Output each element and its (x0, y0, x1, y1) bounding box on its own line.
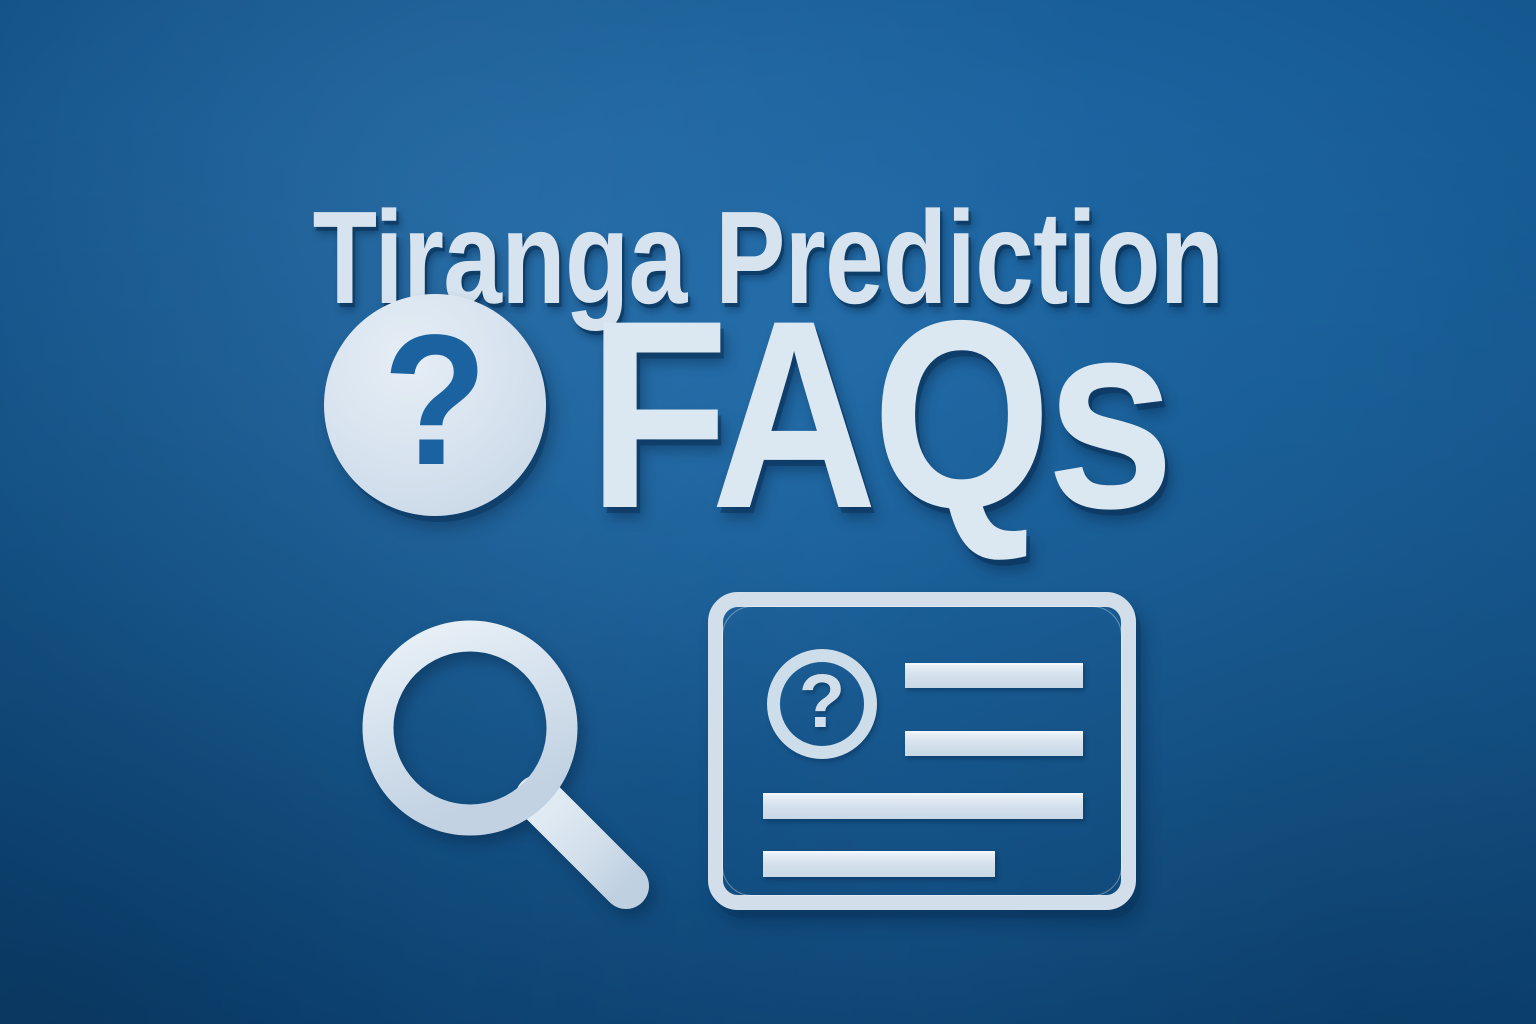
question-mark-circle-icon: ? (324, 294, 546, 516)
question-mark-glyph: ? (333, 290, 537, 512)
magnifying-glass-icon (338, 600, 658, 920)
faq-banner: Tiranga Prediction ? FAQs (0, 0, 1536, 1024)
card-text-line (905, 663, 1083, 688)
faq-document-card: ? (708, 592, 1136, 910)
question-mark-ring-icon: ? (767, 649, 877, 759)
card-text-line (905, 731, 1083, 756)
card-text-line (763, 793, 1083, 819)
card-text-line (763, 851, 995, 877)
faq-heading-lockup: ? FAQs (318, 288, 1238, 538)
question-mark-glyph-small: ? (767, 647, 877, 757)
faq-heading-text: FAQs (588, 280, 1169, 548)
